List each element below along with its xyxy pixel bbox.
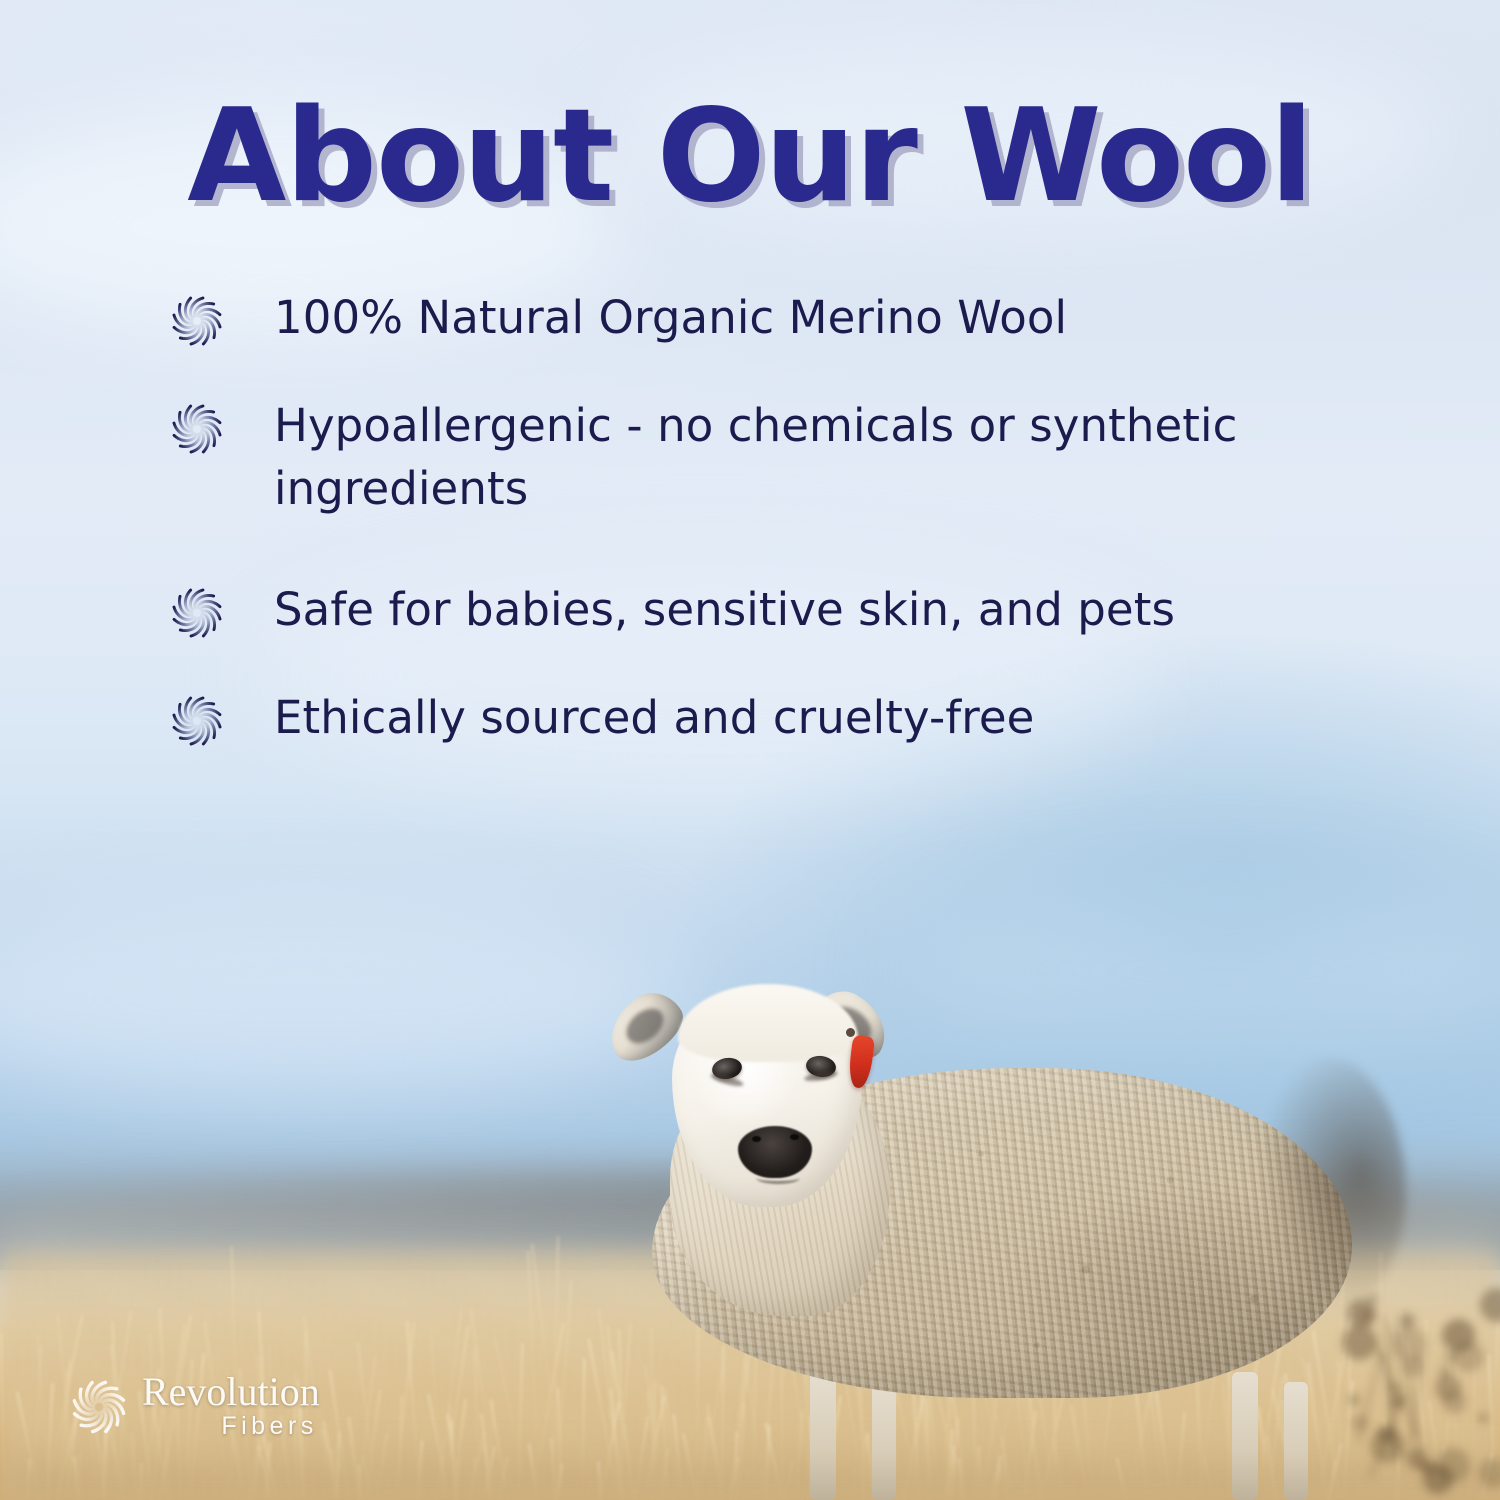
shrub-tuft [1403, 1357, 1423, 1377]
brand-name: Revolution [142, 1372, 320, 1411]
swirl-spiral-icon [168, 584, 226, 642]
feature-list: 100% Natural Organic Merino Wool Hypoall… [168, 286, 1358, 794]
sheep-leg [1232, 1372, 1258, 1500]
ear-inner [620, 1002, 670, 1050]
sheep-nostril [790, 1134, 799, 1140]
shrub-tuft [1479, 1458, 1500, 1488]
sheep-muzzle [738, 1126, 812, 1178]
sheep-nostril [752, 1136, 761, 1142]
list-item: Hypoallergenic - no chemicals or synthet… [168, 394, 1358, 520]
list-item-label: 100% Natural Organic Merino Wool [274, 286, 1067, 349]
list-item-label: Safe for babies, sensitive skin, and pet… [274, 578, 1175, 641]
page-title: About Our Wool [0, 88, 1500, 226]
swirl-spiral-icon [168, 292, 226, 350]
list-item-label: Hypoallergenic - no chemicals or synthet… [274, 394, 1334, 520]
shrub-tuft [1478, 1413, 1488, 1423]
list-item-label: Ethically sourced and cruelty-free [274, 686, 1034, 749]
shrub-tuft [1480, 1288, 1500, 1322]
brand-wordmark: Revolution Fibers [142, 1372, 320, 1442]
sheep-leg [872, 1380, 896, 1500]
sheep-mouth [756, 1172, 800, 1184]
brand-logo: Revolution Fibers [68, 1372, 320, 1442]
swirl-spiral-icon [168, 692, 226, 750]
list-item: 100% Natural Organic Merino Wool [168, 286, 1358, 350]
shrub-tuft [1439, 1366, 1452, 1379]
shrub-tuft [1423, 1464, 1453, 1494]
swirl-spiral-icon [168, 400, 226, 458]
sheep-leg [1284, 1382, 1308, 1500]
shrub-tuft [1453, 1341, 1484, 1372]
brand-subtitle: Fibers [142, 1411, 320, 1442]
list-item: Ethically sourced and cruelty-free [168, 686, 1358, 750]
shrub-tuft [1442, 1390, 1466, 1414]
sheep-photo-subject [560, 940, 1400, 1500]
ear-tag-pin [846, 1028, 855, 1037]
sheep-leg [810, 1370, 836, 1500]
sheep-rump-shadow [1256, 1058, 1406, 1308]
list-item: Safe for babies, sensitive skin, and pet… [168, 578, 1358, 642]
swirl-spiral-icon [68, 1376, 130, 1438]
infographic-canvas: About Our Wool 100% Natural Organic Meri… [0, 0, 1500, 1500]
